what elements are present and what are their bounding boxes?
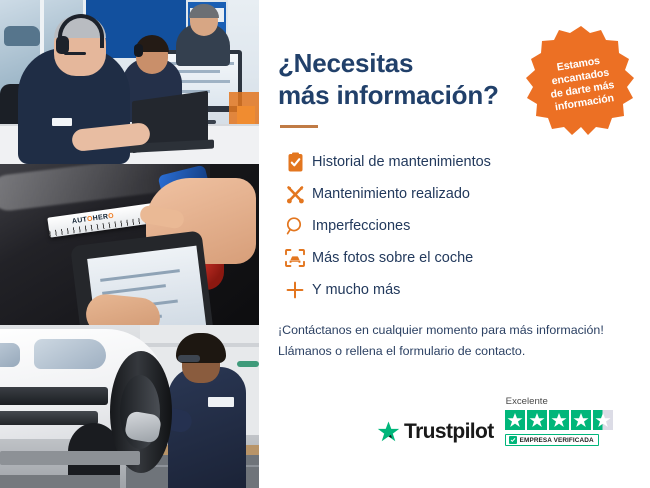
contact-line-1: ¡Contáctanos en cualquier momento para m… <box>278 323 604 337</box>
feature-label: Mantenimiento realizado <box>312 186 470 202</box>
star-3-filled <box>549 410 569 430</box>
clipboard-check-icon <box>278 152 312 173</box>
headline-line-2: más información? <box>278 80 499 110</box>
star-2-filled <box>527 410 547 430</box>
contact-text: ¡Contáctanos en cualquier momento para m… <box>278 320 626 360</box>
star-5-partial <box>593 410 613 430</box>
photo-car-inspection-ruler-and-tablet: AUTOHERO <box>0 164 259 325</box>
contact-line-2: Llámanos o rellena el formulario de cont… <box>278 344 525 358</box>
feature-item-maintenance-done: Mantenimiento realizado <box>278 178 626 210</box>
trustpilot-rating[interactable]: Trustpilot Excelente <box>377 396 613 446</box>
check-icon <box>509 436 517 444</box>
crossed-tools-icon <box>278 184 312 205</box>
feature-item-imperfections: Imperfecciones <box>278 210 626 242</box>
magnifier-icon <box>278 216 312 236</box>
trustpilot-star-icon <box>377 421 400 443</box>
info-request-banner: AUTOHERO <box>0 0 650 488</box>
feature-list: Historial de mantenimientos M <box>278 146 626 306</box>
trustpilot-brand-name: Trustpilot <box>404 420 494 444</box>
star-1-filled <box>505 410 525 430</box>
trustpilot-logo[interactable]: Trustpilot <box>377 420 494 446</box>
trustpilot-rating-label: Excelente <box>506 396 548 407</box>
verified-label: EMPRESA VERIFICADA <box>520 437 594 444</box>
photo-call-center-agents-with-headsets <box>0 0 259 164</box>
content-panel: ¿Necesitas más información? Historial de… <box>259 0 650 488</box>
feature-item-maintenance-history: Historial de mantenimientos <box>278 146 626 178</box>
feature-label: Imperfecciones <box>312 218 410 234</box>
plus-icon <box>278 280 312 300</box>
car-viewfinder-icon <box>278 248 312 268</box>
feature-label: Historial de mantenimientos <box>312 154 491 170</box>
feature-label: Y mucho más <box>312 282 400 298</box>
feature-item-more-photos: Más fotos sobre el coche <box>278 242 626 274</box>
photo-column: AUTOHERO <box>0 0 259 488</box>
feature-item-much-more: Y mucho más <box>278 274 626 306</box>
feature-label: Más fotos sobre el coche <box>312 250 473 266</box>
page-title: ¿Necesitas más información? <box>278 48 518 111</box>
verified-company-badge: EMPRESA VERIFICADA <box>505 434 599 446</box>
trustpilot-stars <box>505 410 613 430</box>
promo-badge: Estamos encantados de darte más informac… <box>524 24 638 138</box>
photo-mechanic-inspecting-wheel-on-lift <box>0 325 259 488</box>
title-underline-divider <box>280 125 318 128</box>
badge-text: Estamos encantados de darte más informac… <box>532 51 631 116</box>
star-4-filled <box>571 410 591 430</box>
headline-line-1: ¿Necesitas <box>278 48 413 78</box>
